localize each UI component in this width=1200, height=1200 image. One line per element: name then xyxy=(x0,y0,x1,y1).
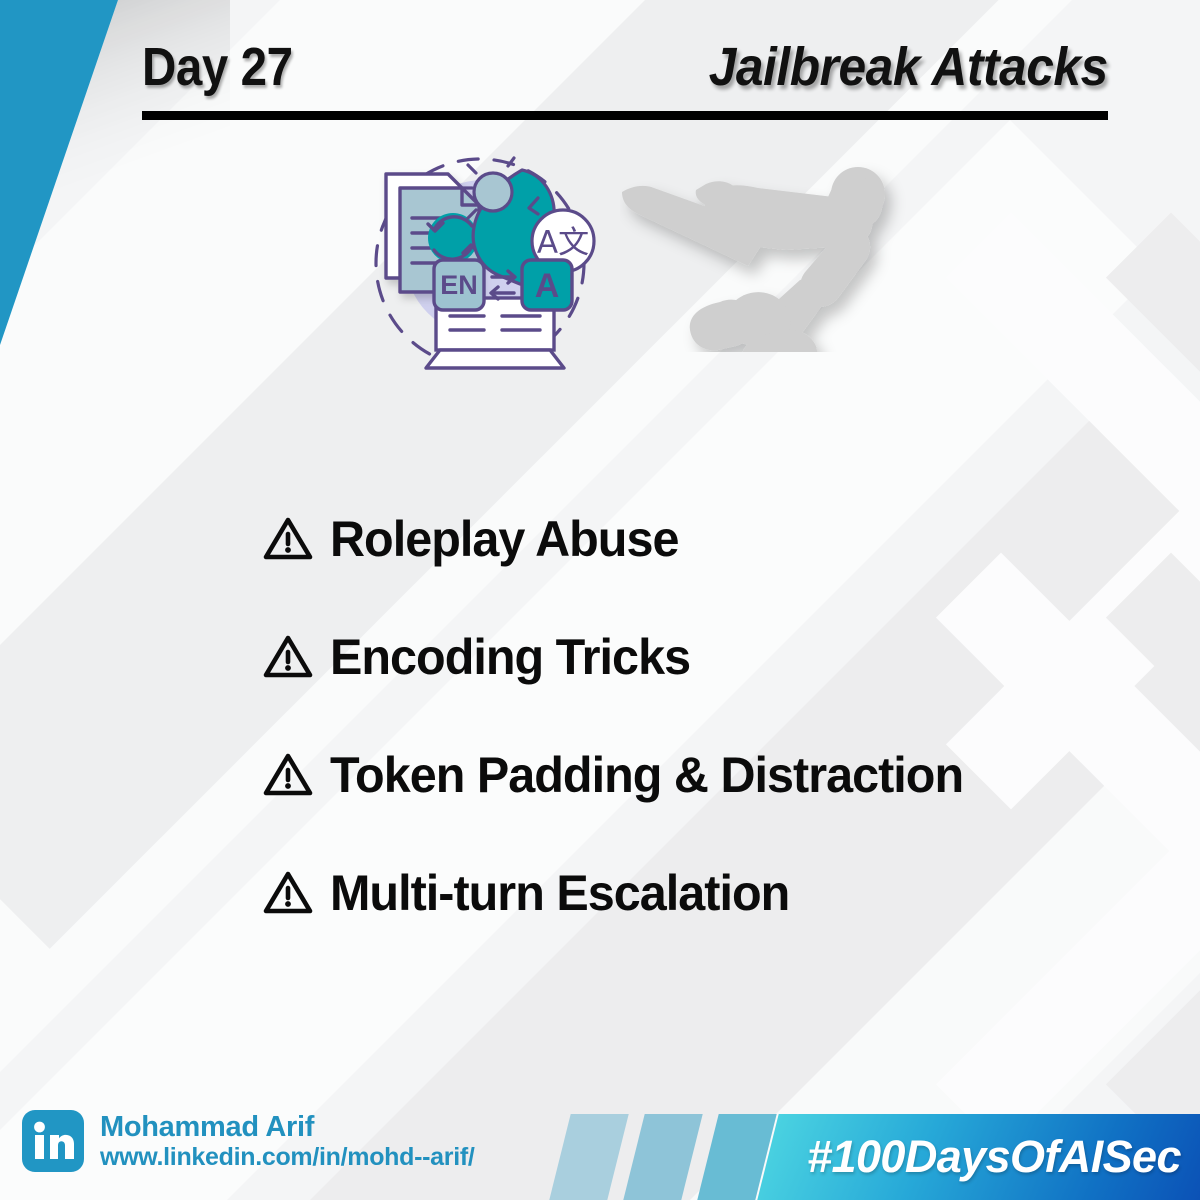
source-language-label: EN xyxy=(440,270,478,300)
target-language-chip: A xyxy=(522,260,572,310)
author-texts: Mohammad Arif www.linkedin.com/in/mohd--… xyxy=(100,1112,475,1171)
author-name: Mohammad Arif xyxy=(100,1112,475,1142)
poster-header: Day 27 Jailbreak Attacks xyxy=(142,36,1108,98)
list-item: Token Padding & Distraction xyxy=(262,716,1142,834)
list-item: Multi-turn Escalation xyxy=(262,834,1142,952)
translation-illustration: A文 EN xyxy=(350,140,610,390)
list-item: Encoding Tricks xyxy=(262,598,1142,716)
sync-arrows-icon xyxy=(428,213,478,263)
hashtag-banner: #100DaysOfAISec xyxy=(757,1114,1200,1200)
page-title: Jailbreak Attacks xyxy=(709,36,1108,98)
list-item-label: Roleplay Abuse xyxy=(330,510,678,568)
warning-triangle-icon xyxy=(262,867,314,919)
attack-list: Roleplay Abuse Encoding Tricks Token Pad… xyxy=(262,480,1142,952)
author-badge[interactable]: Mohammad Arif www.linkedin.com/in/mohd--… xyxy=(22,1110,475,1172)
day-label: Day 27 xyxy=(142,36,293,98)
banner-stripe xyxy=(549,1114,628,1200)
translate-badge-text: A文 xyxy=(537,225,589,261)
header-divider xyxy=(142,111,1108,120)
linkedin-glyph xyxy=(22,1110,84,1172)
warning-triangle-icon xyxy=(262,749,314,801)
list-item-label: Encoding Tricks xyxy=(330,628,690,686)
illustration-row: A文 EN xyxy=(350,140,950,390)
warning-triangle-icon xyxy=(262,631,314,683)
hashtag-banner-wrapper: #100DaysOfAISec xyxy=(550,1114,1200,1200)
warning-triangle-icon xyxy=(262,513,314,565)
list-item-label: Token Padding & Distraction xyxy=(330,746,963,804)
list-item-label: Multi-turn Escalation xyxy=(330,864,789,922)
target-language-label: A xyxy=(535,267,560,305)
banner-stripe xyxy=(623,1114,702,1200)
silhouette-body xyxy=(622,167,885,352)
blue-corner-triangle xyxy=(0,0,118,345)
list-item: Roleplay Abuse xyxy=(262,480,1142,598)
linkedin-icon[interactable] xyxy=(22,1110,84,1172)
poster-canvas: Day 27 Jailbreak Attacks xyxy=(0,0,1200,1200)
source-language-chip: EN xyxy=(434,260,484,310)
martial-arts-kick-silhouette xyxy=(620,152,920,352)
hashtag-label: #100DaysOfAISec xyxy=(768,1114,1200,1200)
author-profile-url[interactable]: www.linkedin.com/in/mohd--arif/ xyxy=(100,1144,475,1170)
